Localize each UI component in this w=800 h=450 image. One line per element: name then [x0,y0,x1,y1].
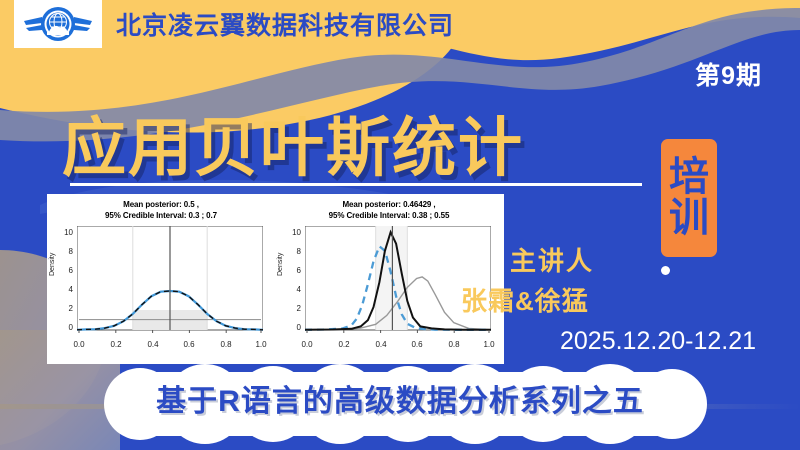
chart-left-ytick-10: 10 [57,228,73,237]
chart-left-plot: Density 10 8 6 4 2 0 [47,222,275,354]
chart-left-ytick-0: 0 [57,323,73,332]
chart-left-xtick-4: 0.8 [215,340,237,349]
chart-left-ytick-2: 2 [57,304,73,313]
training-badge-char-2: 训 [669,198,709,239]
chart-left: Mean posterior: 0.5 , 95% Credible Inter… [47,194,275,364]
charts-panel: Mean posterior: 0.5 , 95% Credible Inter… [47,194,504,364]
chart-right-xtick-2: 0.4 [370,340,392,349]
chart-left-xtick-5: 1.0 [250,340,272,349]
bottom-band-title: 基于R语言的高级数据分析系列之五 [0,376,800,420]
chart-left-svg [77,226,263,336]
chart-right-ytick-4: 4 [285,285,301,294]
chart-left-title: Mean posterior: 0.5 , 95% Credible Inter… [47,194,275,222]
chart-right-xtick-4: 0.8 [443,340,465,349]
chart-right-ytick-10: 10 [285,228,301,237]
winged-globe-logo-icon [22,4,94,44]
chart-right-title-line1: Mean posterior: 0.46429 , [275,200,503,211]
chart-left-ylabel: Density [49,252,56,275]
speaker-label: 主讲人 [510,241,594,278]
chart-right-ylabel: Density [277,252,284,275]
chart-right-title-line2: 95% Credible Interval: 0.38 ; 0.55 [275,211,503,222]
chart-left-ytick-4: 4 [57,285,73,294]
chart-left-ytick-8: 8 [57,247,73,256]
company-name: 北京凌云翼数据科技有限公司 [116,6,454,42]
chart-left-xtick-0: 0.0 [68,340,90,349]
course-date: 2025.12.20-12.21 [560,327,756,356]
chart-left-ytick-6: 6 [57,266,73,275]
chart-right-xtick-1: 0.2 [333,340,355,349]
poster-root: 北京凌云翼数据科技有限公司 第9期 应用贝叶斯统计 培 训 主讲人 张霜&徐猛 … [0,0,800,450]
chart-left-title-line2: 95% Credible Interval: 0.3 ; 0.7 [47,211,275,222]
chart-right-ytick-6: 6 [285,266,301,275]
header-bar: 北京凌云翼数据科技有限公司 [0,0,480,48]
chart-right-title: Mean posterior: 0.46429 , 95% Credible I… [275,194,503,222]
chart-right-xtick-0: 0.0 [296,340,318,349]
chart-right-ytick-8: 8 [285,247,301,256]
company-logo [14,0,102,48]
chart-right-ytick-2: 2 [285,304,301,313]
chart-right-ytick-0: 0 [285,323,301,332]
issue-badge: 第9期 [695,56,762,92]
chart-left-xtick-2: 0.4 [142,340,164,349]
chart-left-xtick-1: 0.2 [105,340,127,349]
chart-left-xtick-3: 0.6 [178,340,200,349]
chart-right-xtick-3: 0.6 [406,340,428,349]
chart-left-title-line1: Mean posterior: 0.5 , [47,200,275,211]
speaker-names: 张霜&徐猛 [461,281,589,318]
decorative-dot [661,266,670,275]
chart-right: Mean posterior: 0.46429 , 95% Credible I… [275,194,503,364]
training-badge-char-1: 培 [669,157,709,198]
page-title: 应用贝叶斯统计 [62,97,524,189]
chart-right-xtick-5: 1.0 [478,340,500,349]
training-badge: 培 训 [661,139,717,257]
